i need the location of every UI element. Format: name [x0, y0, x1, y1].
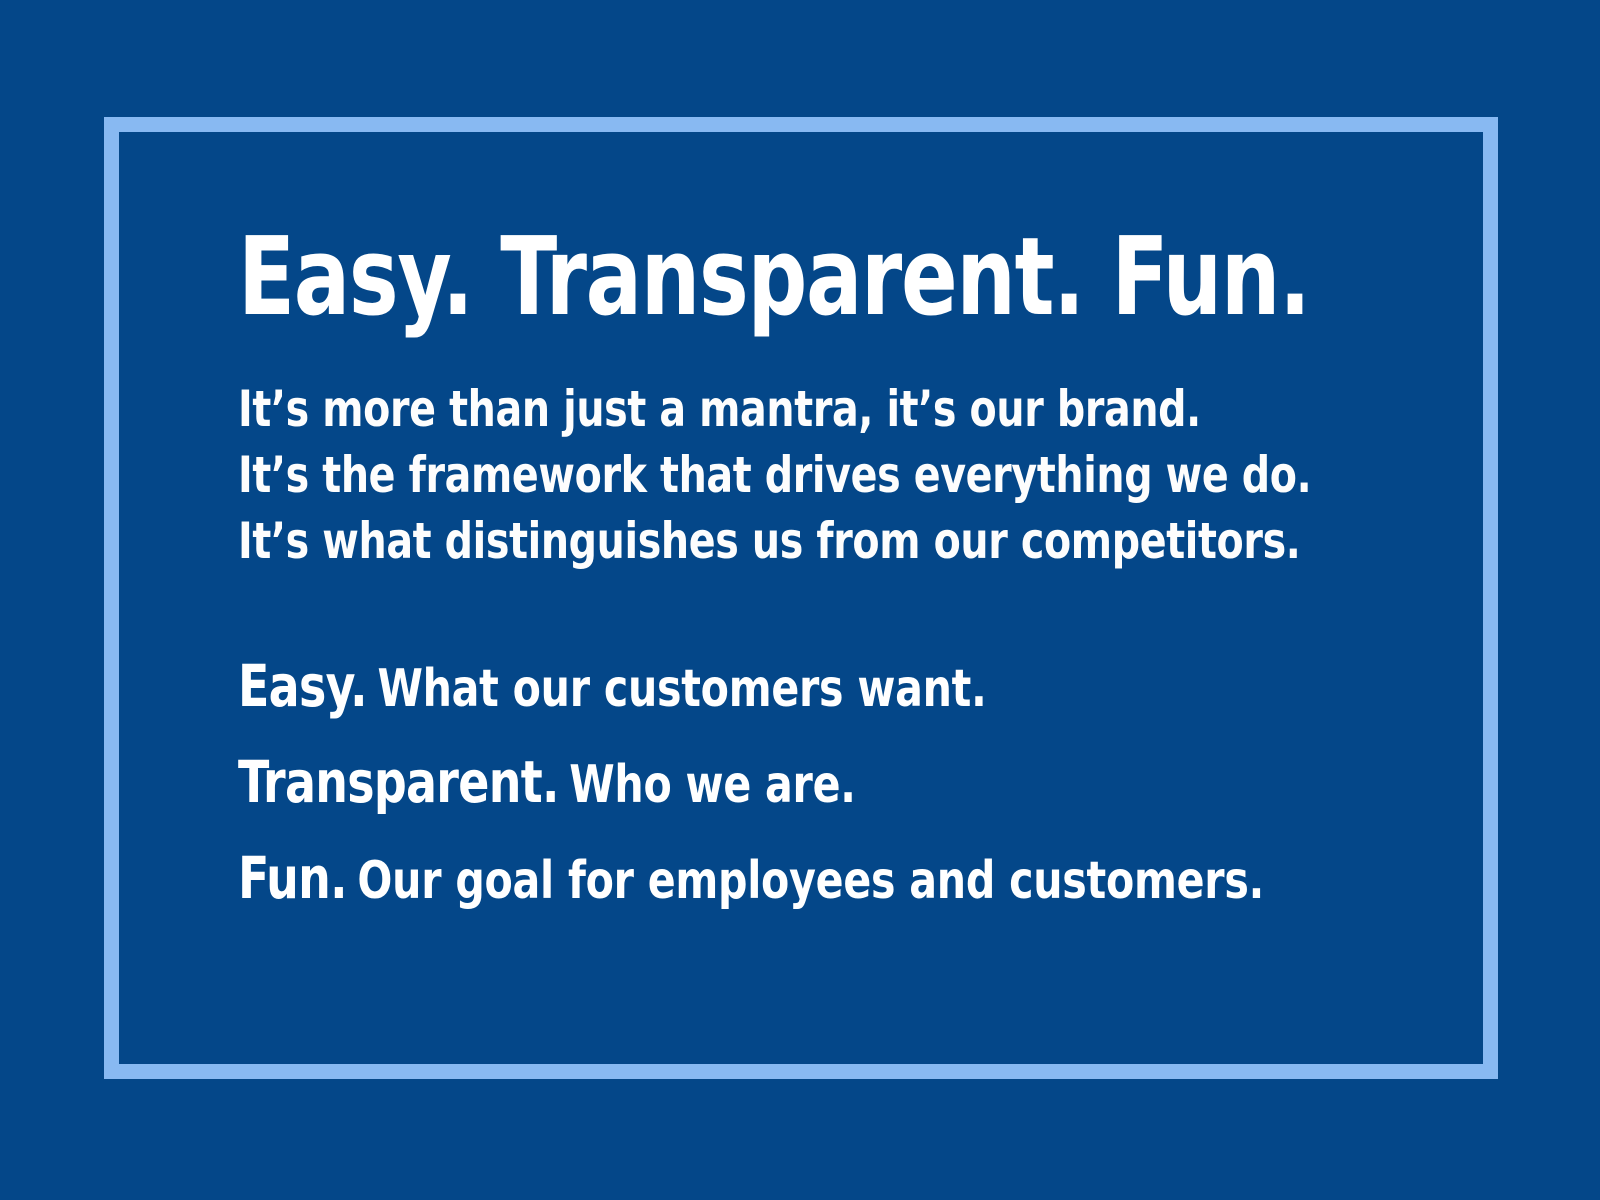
definition-item-fun: Fun.Our goal for employees and customers…: [238, 838, 1259, 934]
definition-item-easy: Easy.What our customers want.: [238, 646, 1259, 742]
slide-content: Easy. Transparent. Fun. It’s more than j…: [238, 222, 1398, 934]
definition-term-fun: Fun.: [238, 844, 347, 912]
definition-term-easy: Easy.: [238, 652, 367, 720]
intro-line-3: It’s what distinguishes us from our comp…: [238, 508, 1259, 574]
intro-line-2: It’s the framework that drives everythin…: [238, 442, 1259, 508]
intro-line-1: It’s more than just a mantra, it’s our b…: [238, 376, 1259, 442]
definition-description-fun: Our goal for employees and customers.: [347, 851, 1264, 911]
definition-description-transparent: Who we are.: [559, 755, 856, 815]
definition-item-transparent: Transparent.Who we are.: [238, 742, 1259, 838]
definition-term-transparent: Transparent.: [238, 748, 559, 816]
definitions-list: Easy.What our customers want. Transparen…: [238, 574, 1398, 934]
intro-paragraph: It’s more than just a mantra, it’s our b…: [238, 334, 1398, 574]
definition-description-easy: What our customers want.: [367, 659, 987, 719]
page-title: Easy. Transparent. Fun.: [238, 222, 1236, 334]
slide-canvas: Easy. Transparent. Fun. It’s more than j…: [0, 0, 1600, 1200]
